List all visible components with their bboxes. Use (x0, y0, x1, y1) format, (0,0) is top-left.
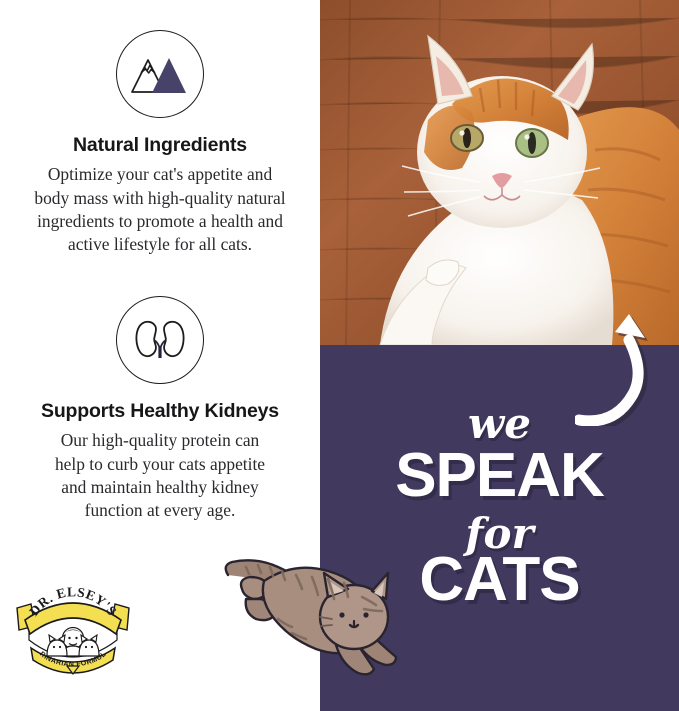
feature-title: Supports Healthy Kidneys (0, 401, 320, 422)
feature-body-line: and maintain healthy kidney (8, 476, 312, 499)
feature-body-line: body mass with high-quality natural (8, 187, 312, 210)
slogan-line-speak: SPEAK (320, 445, 679, 507)
dr-elseys-logo-svg: DR. ELSEY'S (9, 578, 137, 676)
leaping-cat-svg (216, 541, 408, 683)
feature-body-line: function at every age. (8, 499, 312, 522)
feature-natural-ingredients: Natural Ingredients Optimize your cat's … (0, 30, 320, 256)
feature-body: Optimize your cat's appetite and body ma… (0, 163, 320, 256)
feature-body-line: active lifestyle for all cats. (8, 233, 312, 256)
feature-body-line: ingredients to promote a health and (8, 210, 312, 233)
mountain-icon-svg (129, 52, 191, 96)
feature-body-line: help to curb your cats appetite (8, 453, 312, 476)
feature-supports-healthy-kidneys: Supports Healthy Kidneys Our high-qualit… (0, 296, 320, 522)
cat-photo-svg (320, 0, 679, 345)
feature-body-line: Optimize your cat's appetite and (8, 163, 312, 186)
cat-photo (320, 0, 679, 345)
product-infographic: Natural Ingredients Optimize your cat's … (0, 0, 679, 711)
feature-body-line: Our high-quality protein can (8, 429, 312, 452)
mountain-icon (116, 30, 204, 118)
feature-title: Natural Ingredients (0, 135, 320, 156)
dr-elseys-logo: DR. ELSEY'S (9, 578, 137, 676)
leaping-cat-illustration (216, 541, 408, 683)
slogan-line-we: we (320, 403, 679, 445)
feature-body: Our high-quality protein can help to cur… (0, 429, 320, 522)
kidneys-icon (116, 296, 204, 384)
kidneys-icon-svg (131, 316, 189, 364)
